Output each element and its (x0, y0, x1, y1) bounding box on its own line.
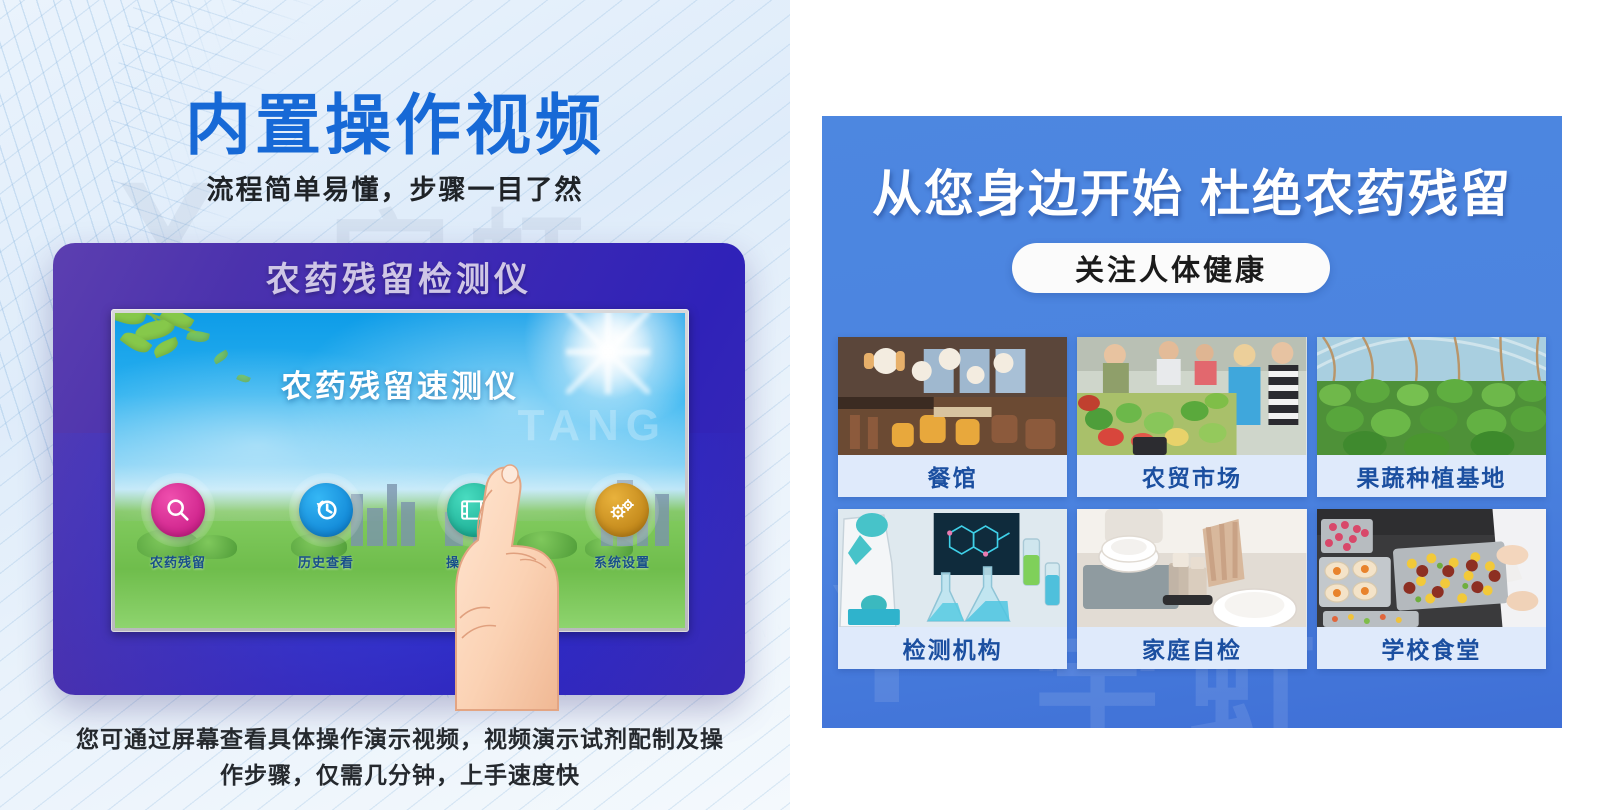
left-panel: Y 宇虹 内置操作视频 流程简单易懂，步骤一目了然 农药残留检测仪 (0, 0, 790, 810)
app-icon-pesticide-residue[interactable]: 农药残留 (132, 473, 224, 571)
health-focus-label: 关注人体健康 (1075, 247, 1267, 289)
app-icon-label: 历史查看 (280, 552, 372, 571)
scenario-card-label: 餐馆 (838, 455, 1067, 497)
icon-halo (289, 473, 363, 547)
device-title: 农药残留检测仪 (53, 252, 745, 301)
scenario-card-label: 家庭自检 (1077, 627, 1306, 669)
scenario-card-grid: 餐馆 (830, 337, 1554, 669)
app-icon-label: 农药残留 (132, 552, 224, 571)
scenario-card-label: 农贸市场 (1077, 455, 1306, 497)
promo-page: Y 宇虹 内置操作视频 流程简单易懂，步骤一目了然 农药残留检测仪 (0, 0, 1600, 810)
scenario-card-label: 果蔬种植基地 (1317, 455, 1546, 497)
blue-feature-card: Y 宇虹 从您身边开始 杜绝农药残留 关注人体健康 (822, 116, 1562, 728)
icon-halo (141, 473, 215, 547)
scenario-card[interactable]: 果蔬种植基地 (1317, 337, 1546, 497)
right-panel: Y 宇虹 从您身边开始 杜绝农药残留 关注人体健康 (790, 0, 1600, 810)
laboratory-testing-photo (838, 509, 1067, 627)
home-dining-table-photo (1077, 509, 1306, 627)
right-panel-title: 从您身边开始 杜绝农药残留 (822, 154, 1562, 226)
scenario-card[interactable]: 家庭自检 (1077, 509, 1306, 669)
scenario-card[interactable]: 餐馆 (838, 337, 1067, 497)
app-icon-label: 系统设置 (576, 552, 668, 571)
scenario-card[interactable]: 农贸市场 (1077, 337, 1306, 497)
pointing-hand-illustration (398, 442, 588, 712)
gears-settings-icon (595, 483, 649, 537)
app-icon-history[interactable]: 历史查看 (280, 473, 372, 571)
app-icon-system-settings[interactable]: 系统设置 (576, 473, 668, 571)
scenario-card-label: 学校食堂 (1317, 627, 1546, 669)
scenario-card-label: 检测机构 (838, 627, 1067, 669)
screen-title: 农药残留速测仪 (115, 361, 685, 406)
icon-halo (585, 473, 659, 547)
magnifier-icon (151, 483, 205, 537)
greenhouse-vegetable-photo (1317, 337, 1546, 455)
clock-history-icon (299, 483, 353, 537)
school-canteen-photo (1317, 509, 1546, 627)
scenario-card[interactable]: 学校食堂 (1317, 509, 1546, 669)
page-subtitle: 流程简单易懂，步骤一目了然 (0, 168, 790, 207)
health-focus-pill: 关注人体健康 (1012, 243, 1330, 293)
farmers-market-photo (1077, 337, 1306, 455)
left-caption: 您可通过屏幕查看具体操作演示视频，视频演示试剂配制及操作步骤，仅需几分钟，上手速… (75, 722, 725, 793)
restaurant-interior-photo (838, 337, 1067, 455)
scenario-card[interactable]: 检测机构 (838, 509, 1067, 669)
page-title: 内置操作视频 (0, 72, 790, 168)
